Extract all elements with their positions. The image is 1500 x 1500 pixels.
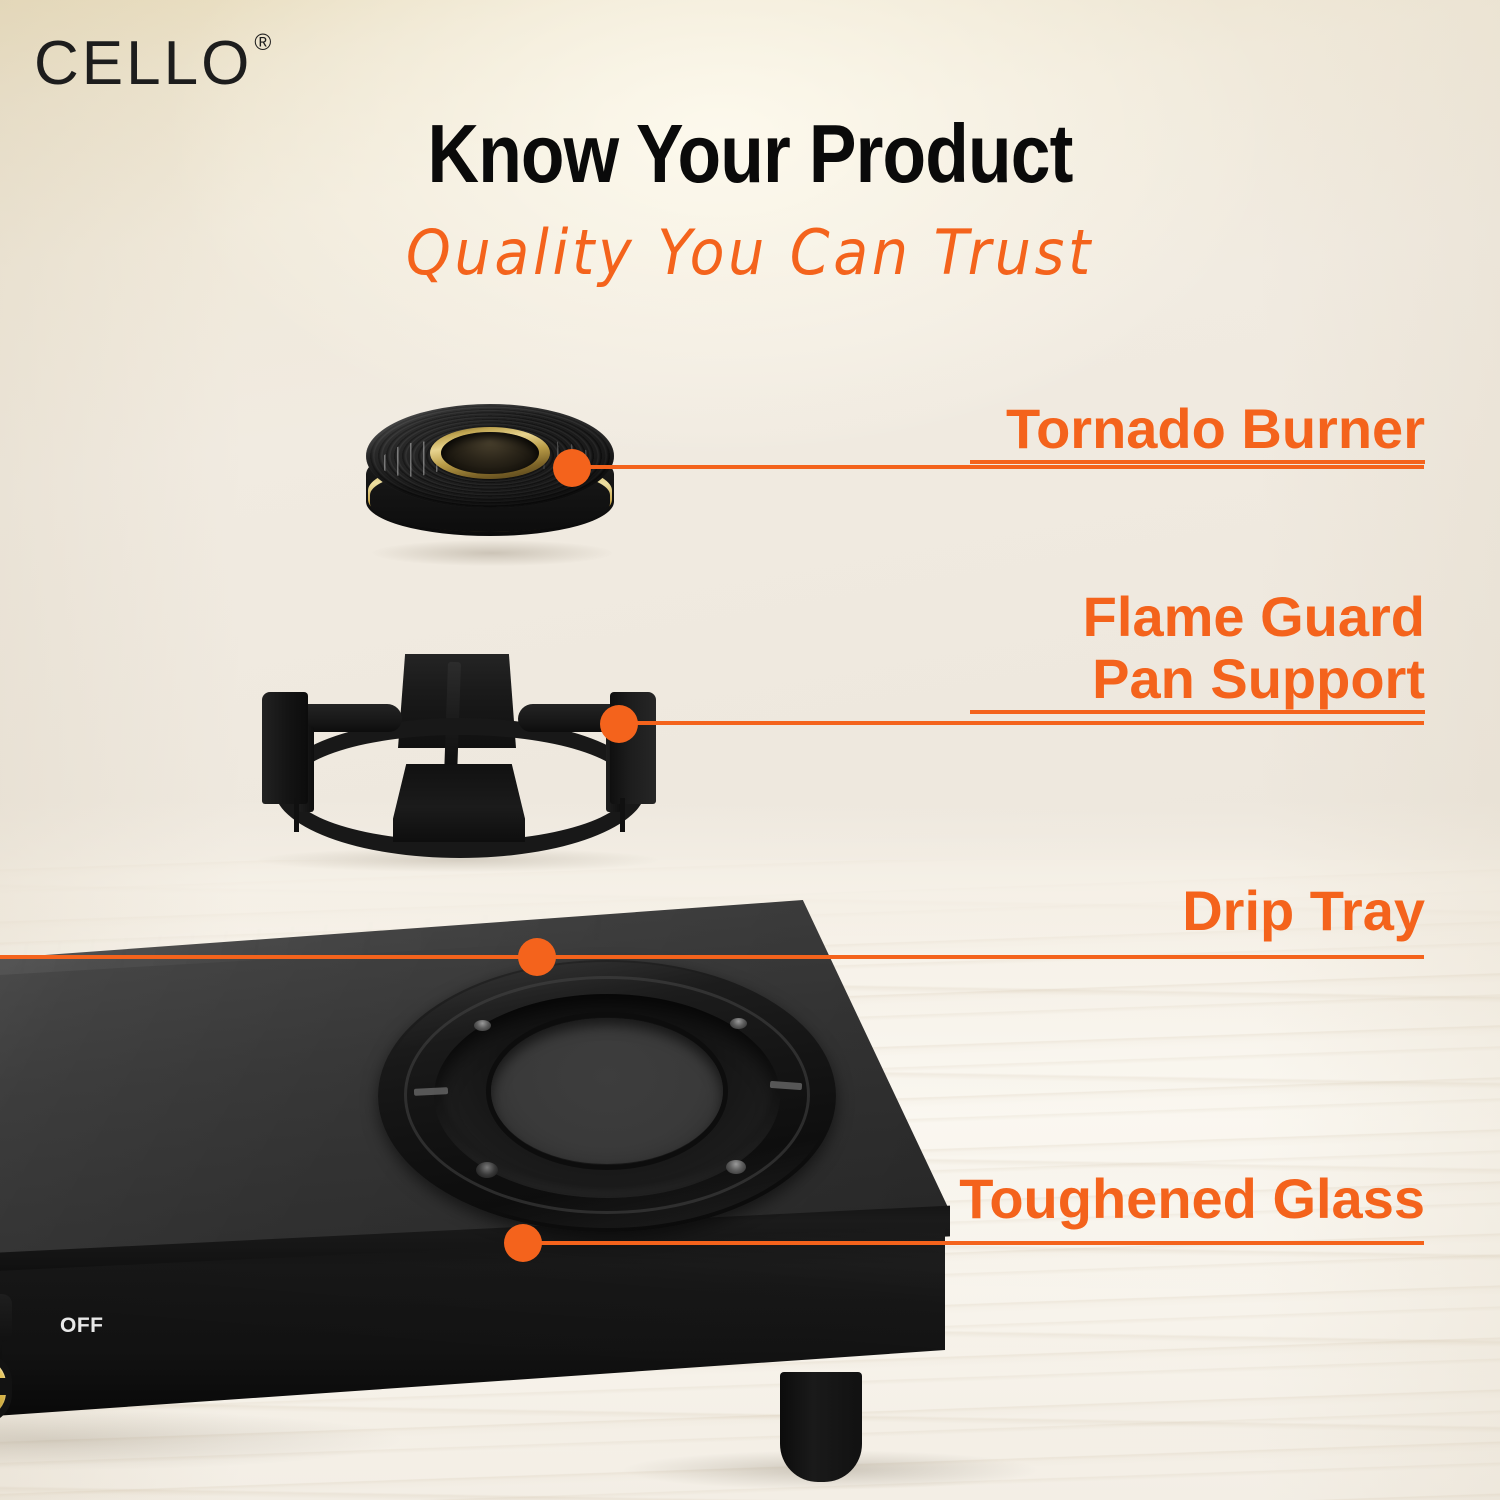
infographic-canvas: CELLO® Know Your Product Quality You Can… xyxy=(0,0,1500,1500)
pan-support-front-tab xyxy=(393,764,525,842)
callout-tornado-burner: Tornado Burner xyxy=(970,398,1425,464)
callout-toughened-glass: Toughened Glass xyxy=(910,1168,1425,1230)
callout-rule-flame-guard-pan-support xyxy=(970,710,1425,714)
brand-logo-text: CELLO xyxy=(34,29,252,98)
callout-flame-guard-pan-support: Flame Guard Pan Support xyxy=(970,586,1425,714)
callout-leader-line-tornado-burner xyxy=(580,465,1424,469)
callout-label-tornado-burner: Tornado Burner xyxy=(970,398,1425,460)
callout-label-flame-guard-line1: Flame Guard xyxy=(970,586,1425,648)
brand-logo: CELLO® xyxy=(34,33,269,95)
stove-ground-shadow-left xyxy=(0,1410,400,1470)
drip-tray-part xyxy=(378,960,836,1240)
stove-leg xyxy=(780,1372,862,1482)
drip-tray-center-opening xyxy=(491,1018,723,1164)
drip-tray-screw-boss xyxy=(476,1162,498,1178)
callout-rule-tornado-burner xyxy=(970,460,1425,464)
pan-support-left-riser xyxy=(262,692,308,804)
callout-label-drip-tray: Drip Tray xyxy=(970,880,1425,942)
burner-center-bore xyxy=(441,432,539,474)
callout-drip-tray: Drip Tray xyxy=(970,880,1425,942)
pan-support-left-leg xyxy=(294,798,299,832)
callout-rule-extension-drip-tray xyxy=(0,955,1424,959)
registered-trademark-icon: ® xyxy=(254,29,271,55)
callout-label-flame-guard-line2: Pan Support xyxy=(970,648,1425,710)
page-title: Know Your Product xyxy=(105,112,1395,195)
drip-tray-screw-boss xyxy=(474,1020,491,1031)
knob-bezel-plate xyxy=(0,1294,12,1342)
drip-tray-screw-boss xyxy=(726,1160,746,1174)
drip-tray-screw-boss xyxy=(730,1018,747,1029)
control-knob-pointer-notch xyxy=(0,1378,8,1395)
callout-leader-line-flame-guard-pan-support xyxy=(628,721,1424,725)
knob-off-label: OFF xyxy=(60,1314,104,1338)
pan-support-right-leg xyxy=(620,798,625,832)
page-subtitle: Quality You Can Trust xyxy=(60,222,1440,284)
flame-guard-pan-support-part xyxy=(250,648,670,866)
callout-leader-line-toughened-glass xyxy=(532,1241,1424,1245)
callout-label-toughened-glass: Toughened Glass xyxy=(910,1168,1425,1230)
